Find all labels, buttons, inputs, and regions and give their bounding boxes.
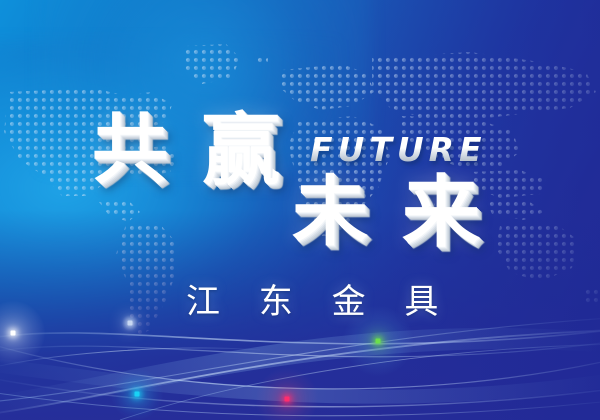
- headline-char-lai: 来: [402, 174, 480, 252]
- headline-char-wei: 未: [292, 174, 368, 250]
- headline-char-ying: 赢: [202, 112, 280, 190]
- headline-block: 共 赢 FUTURE 未 来 江 东 金 具: [0, 0, 600, 420]
- promo-banner: 共 赢 FUTURE 未 来 江 东 金 具: [0, 0, 600, 420]
- headline-latin-future: FUTURE: [310, 130, 487, 169]
- headline-char-gong: 共: [92, 112, 168, 188]
- company-name-subtitle: 江 东 金 具: [186, 274, 452, 323]
